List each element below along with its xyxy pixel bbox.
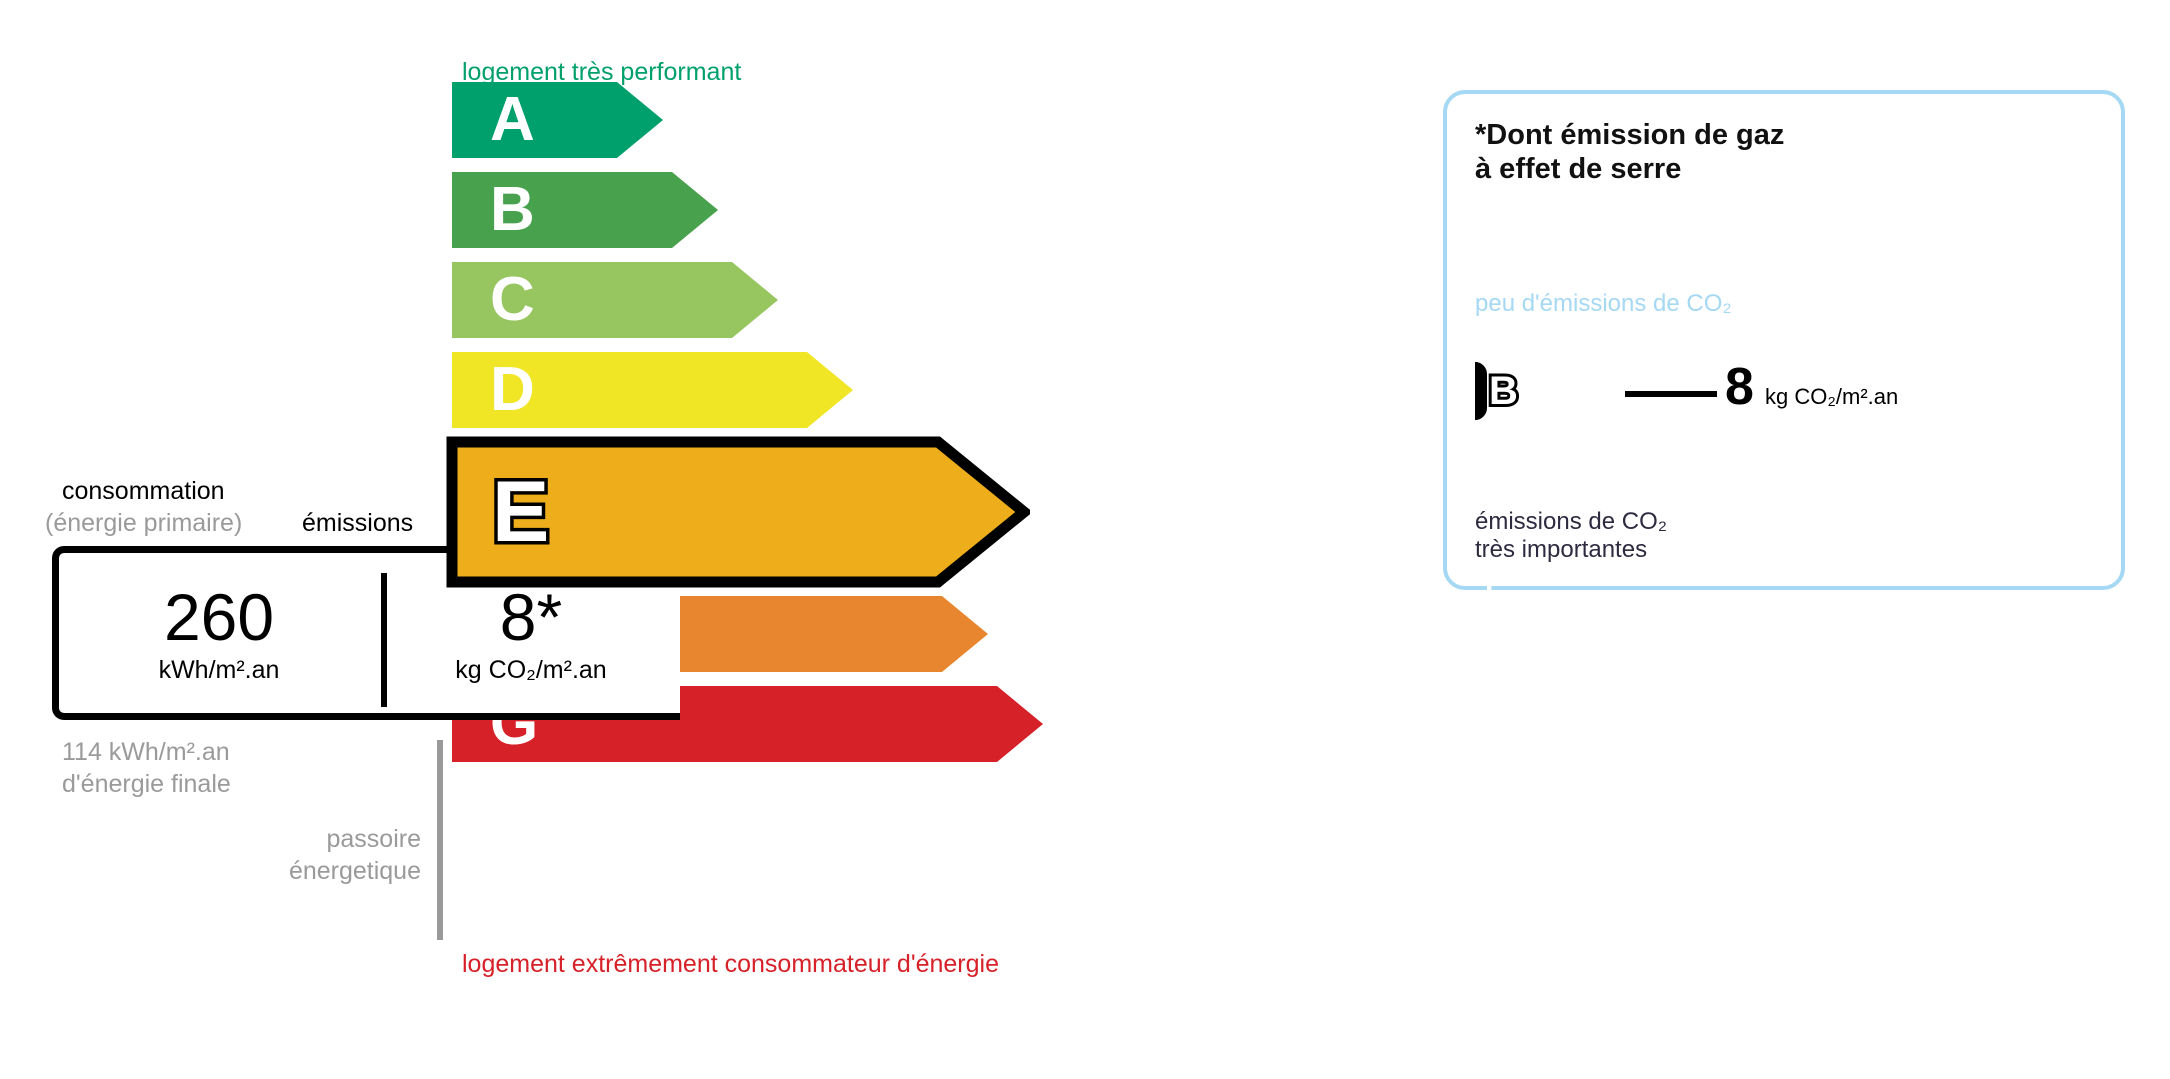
energy-value: 260 <box>164 584 274 650</box>
co2-bar-shape <box>1475 362 1487 420</box>
final-energy-line1: 114 kWh/m².an <box>62 738 230 767</box>
energy-band-letter-e: E <box>492 469 549 555</box>
co2-band-c: C <box>1475 432 1623 468</box>
energy-band-letter-a: A <box>490 89 535 151</box>
energy-unit: kWh/m².an <box>159 658 280 683</box>
energy-band-a: A <box>452 82 663 158</box>
energy-band-letter-b: B <box>490 179 535 241</box>
dpe-diagram: logement très performant ABCDEFG consomm… <box>0 0 2170 1079</box>
final-energy-line2: d'énergie finale <box>62 770 231 799</box>
energy-band-letter-c: C <box>490 269 535 331</box>
energy-band-b: B <box>452 172 718 248</box>
co2-band-letter-d: D <box>1485 479 1507 509</box>
consommation-sublabel: (énergie primaire) <box>45 509 242 538</box>
consommation-label: consommation <box>62 477 225 506</box>
energy-band-c: C <box>452 262 778 338</box>
co2-panel: *Dont émission de gaz à effet de serre p… <box>1443 90 2125 590</box>
band-shape <box>452 82 663 158</box>
co2-band-d: D <box>1475 476 1651 512</box>
co2-band-g: G <box>1475 608 1727 644</box>
co2-band-b: B <box>1475 362 1619 420</box>
co2-panel-title: *Dont émission de gaz à effet de serre <box>1475 118 1784 186</box>
co2-band-letter-c: C <box>1485 435 1507 465</box>
emissions-value: 8* <box>500 584 562 650</box>
co2-band-a: A <box>1475 322 1553 358</box>
co2-value: 8 <box>1725 361 1754 413</box>
co2-top-caption: peu d'émissions de CO₂ <box>1475 290 1732 318</box>
passoire-line1: passoire <box>226 825 421 854</box>
emissions-unit: kg CO₂/m².an <box>455 658 606 683</box>
energy-band-d: D <box>452 352 853 428</box>
co2-band-letter-f: F <box>1485 567 1503 597</box>
passoire-line2: énergetique <box>196 857 421 886</box>
energy-value-cell: 260 kWh/m².an <box>59 553 379 713</box>
emissions-label: émissions <box>302 509 413 538</box>
co2-leader-line <box>1625 391 1717 397</box>
co2-band-letter-g: G <box>1485 611 1508 641</box>
co2-bottom-caption: émissions de CO₂ très importantes <box>1475 508 1667 563</box>
energy-performance-chart: logement très performant ABCDEFG consomm… <box>0 0 1300 1020</box>
energy-band-letter-d: D <box>490 359 535 421</box>
passoire-rule <box>437 740 443 940</box>
co2-band-letter-b: B <box>1489 371 1518 411</box>
co2-band-letter-a: A <box>1485 325 1507 355</box>
co2-value-unit: kg CO₂/m².an <box>1765 386 1898 408</box>
energy-band-e: E <box>446 436 1030 588</box>
energy-bottom-caption: logement extrêmement consommateur d'éner… <box>462 950 999 979</box>
co2-band-f: F <box>1475 564 1703 600</box>
